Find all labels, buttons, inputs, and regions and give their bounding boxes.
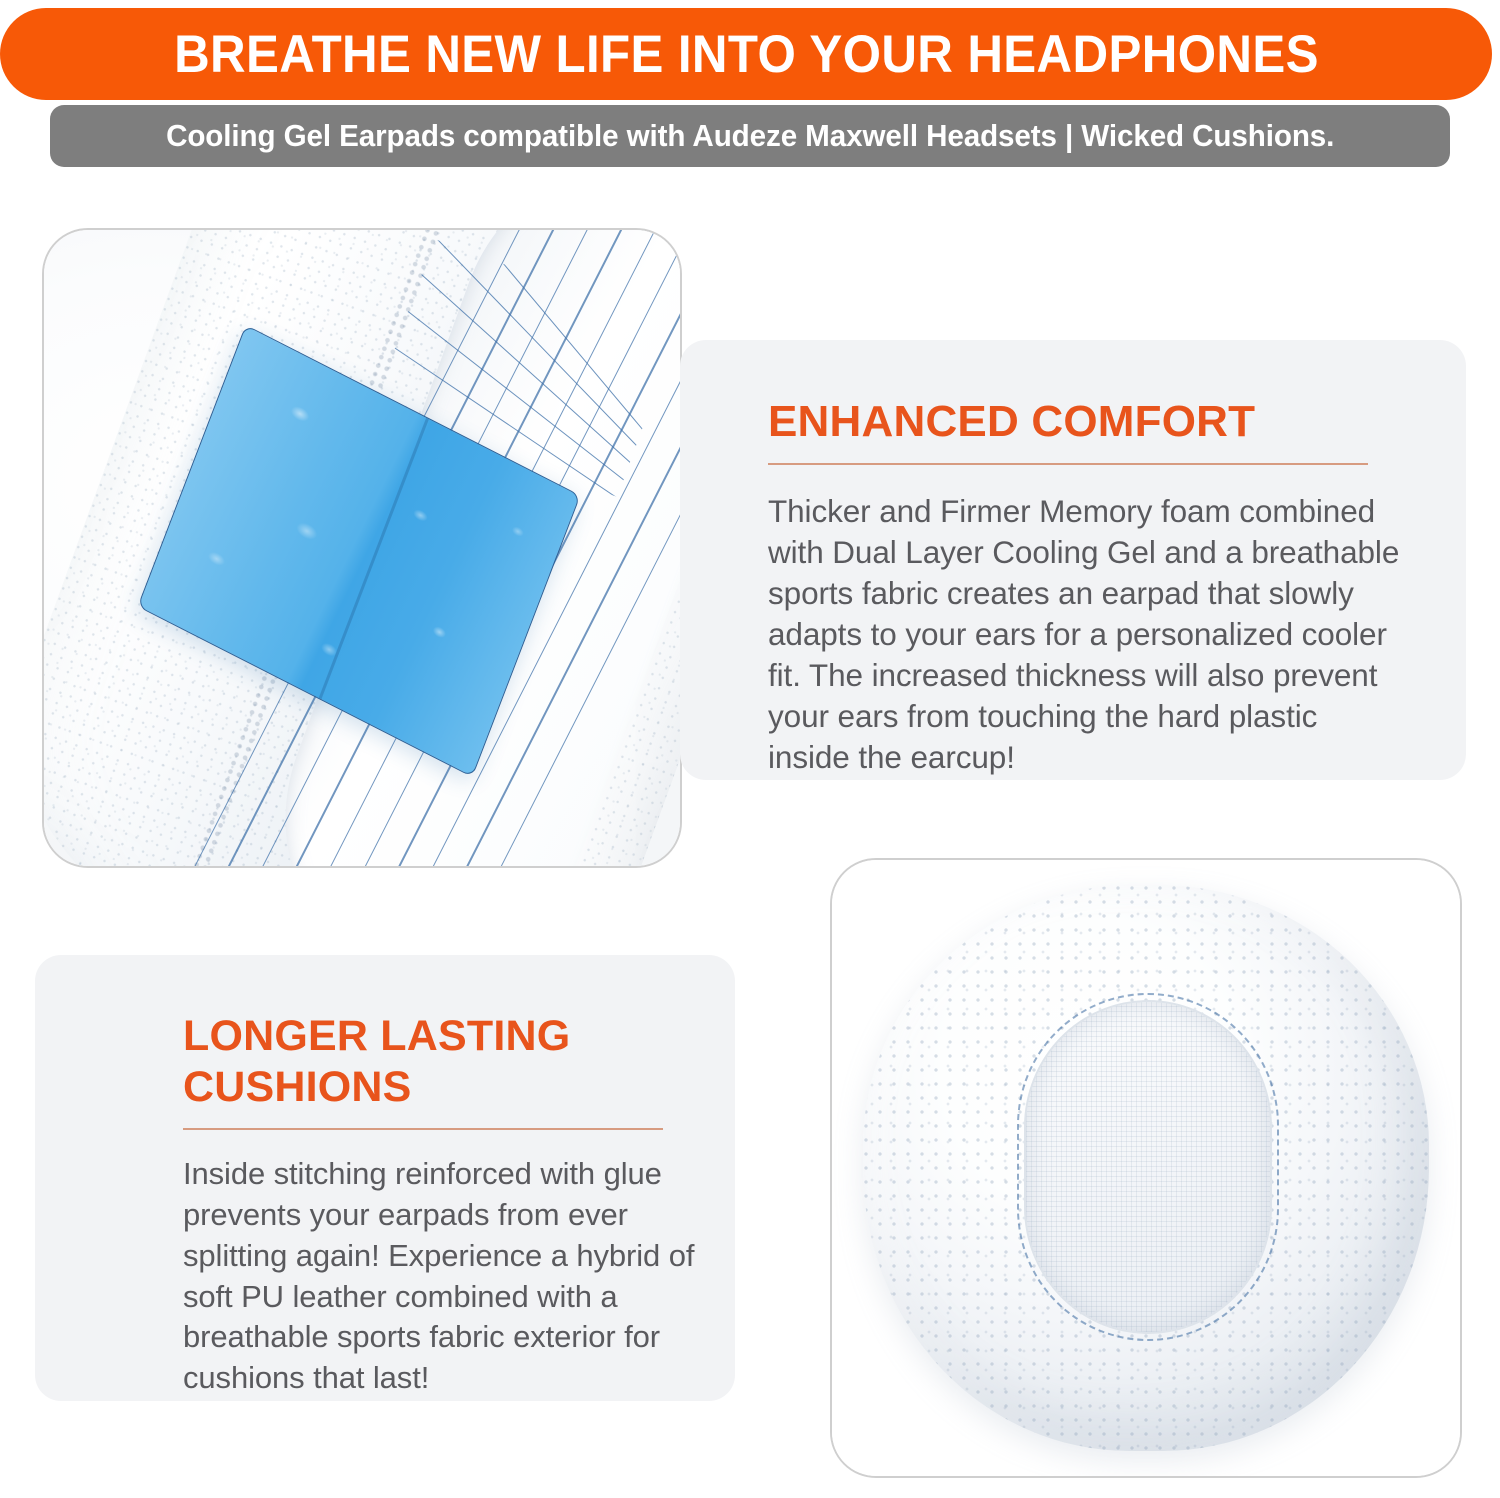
feature-body-enhanced-comfort: Thicker and Firmer Memory foam combined … xyxy=(768,491,1404,779)
feature-panel-enhanced-comfort: ENHANCED COMFORT Thicker and Firmer Memo… xyxy=(680,340,1466,780)
gel-panel-fold xyxy=(314,407,433,711)
earpad-ear-opening xyxy=(1024,1000,1272,1334)
feature-heading-longer-lasting-cushions: LONGER LASTING CUSHIONS xyxy=(183,1011,695,1112)
heading-divider-rule xyxy=(183,1128,663,1130)
feature-panel-longer-lasting-cushions: LONGER LASTING CUSHIONS Inside stitching… xyxy=(35,955,735,1401)
subtitle-text: Cooling Gel Earpads compatible with Aude… xyxy=(166,119,1334,154)
header-banner: BREATHE NEW LIFE INTO YOUR HEADPHONES xyxy=(0,8,1492,100)
page-title: BREATHE NEW LIFE INTO YOUR HEADPHONES xyxy=(174,28,1319,81)
heading-divider-rule xyxy=(768,463,1368,465)
subtitle-bar: Cooling Gel Earpads compatible with Aude… xyxy=(50,105,1450,167)
earpad-front-photo xyxy=(832,860,1460,1476)
feature-heading-enhanced-comfort: ENHANCED COMFORT xyxy=(768,398,1404,447)
cooling-gel-photo xyxy=(44,230,680,866)
earpad-front-view-image-card xyxy=(830,858,1462,1478)
cooling-gel-closeup-image-card xyxy=(42,228,682,868)
feature-body-longer-lasting-cushions: Inside stitching reinforced with glue pr… xyxy=(183,1154,695,1399)
